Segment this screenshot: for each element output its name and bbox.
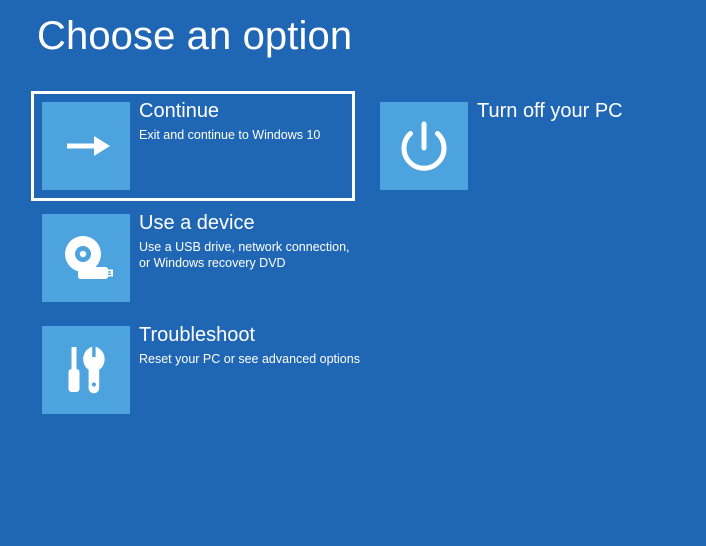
option-continue-inner: Continue Exit and continue to Windows 10 [42, 102, 344, 190]
page-title: Choose an option [37, 8, 352, 64]
disc-usb-icon [42, 214, 130, 302]
arrow-right-icon [42, 102, 130, 190]
screwdriver-wrench-icon [42, 326, 130, 414]
option-use-device-text: Use a device Use a USB drive, network co… [139, 210, 369, 271]
option-troubleshoot-title: Troubleshoot [139, 322, 369, 349]
option-continue[interactable]: Continue Exit and continue to Windows 10 [31, 91, 355, 201]
option-troubleshoot-text: Troubleshoot Reset your PC or see advanc… [139, 322, 369, 367]
option-use-device-title: Use a device [139, 210, 369, 237]
power-icon [380, 102, 468, 190]
option-continue-title: Continue [139, 98, 369, 125]
recovery-choose-option-screen: Choose an option Continue Exit and conti… [0, 0, 706, 546]
option-use-device-subtitle-line-2: or Windows recovery DVD [139, 255, 354, 271]
option-turn-off-title: Turn off your PC [477, 98, 706, 125]
option-continue-subtitle-line: Exit and continue to Windows 10 [139, 127, 354, 143]
option-troubleshoot[interactable]: Troubleshoot Reset your PC or see advanc… [31, 315, 355, 425]
option-use-a-device[interactable]: Use a device Use a USB drive, network co… [31, 203, 355, 313]
option-troubleshoot-inner: Troubleshoot Reset your PC or see advanc… [42, 326, 344, 414]
option-use-device-subtitle-line-1: Use a USB drive, network connection, [139, 239, 354, 255]
option-use-device-inner: Use a device Use a USB drive, network co… [42, 214, 344, 302]
option-continue-subtitle: Exit and continue to Windows 10 [139, 127, 354, 143]
option-troubleshoot-subtitle: Reset your PC or see advanced options [139, 351, 354, 367]
option-turn-off-text: Turn off your PC [477, 98, 706, 125]
option-turn-off-your-pc[interactable]: Turn off your PC [369, 91, 669, 201]
option-use-device-subtitle: Use a USB drive, network connection, or … [139, 239, 354, 271]
option-continue-text: Continue Exit and continue to Windows 10 [139, 98, 369, 143]
option-turn-off-inner: Turn off your PC [380, 102, 658, 190]
option-troubleshoot-subtitle-line: Reset your PC or see advanced options [139, 351, 354, 367]
